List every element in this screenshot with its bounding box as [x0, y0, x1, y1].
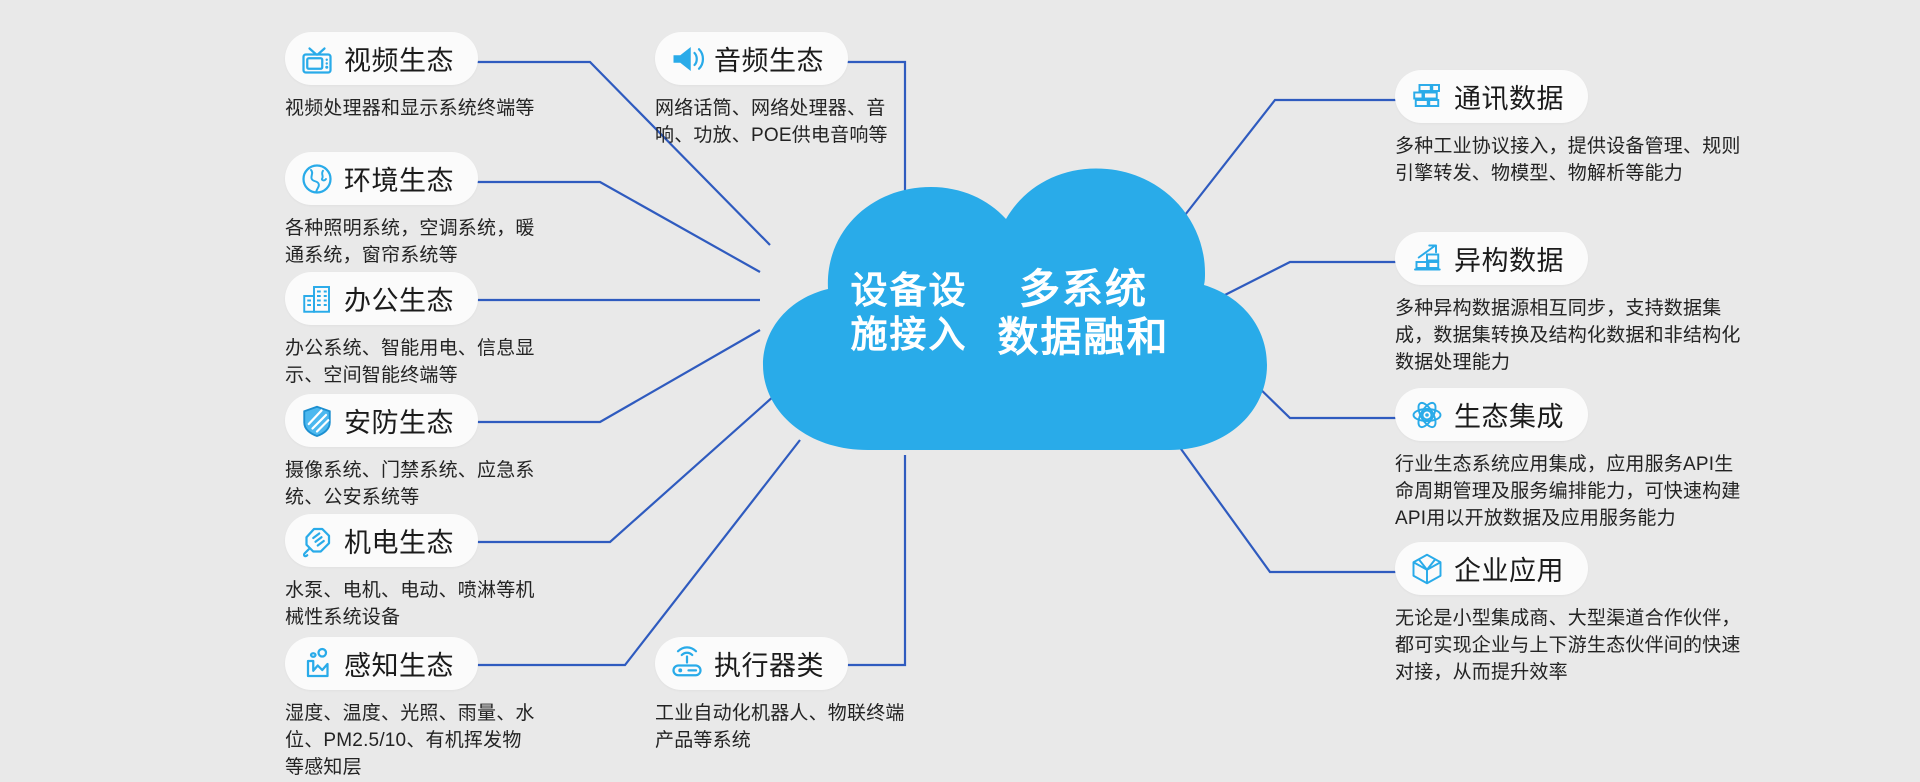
node-title: 办公生态	[344, 279, 454, 318]
node-video[interactable]: 视频生态 视频处理器和显示系统终端等	[285, 32, 535, 123]
node-desc: 水泵、电机、电动、喷淋等机械性系统设备	[285, 578, 535, 632]
node-ecosystem-integration[interactable]: 生态集成 行业生态系统应用集成，应用服务API生命周期管理及服务编排能力，可快速…	[1395, 388, 1745, 533]
node-desc: 工业自动化机器人、物联终端产品等系统	[655, 701, 905, 755]
bricks-icon	[1409, 79, 1445, 115]
plug-icon	[299, 523, 335, 559]
node-heterogeneous-data[interactable]: 异构数据 多种异构数据源相互同步，支持数据集成，数据集转换及结构化数据和非结构化…	[1395, 232, 1745, 377]
tv-icon	[299, 41, 335, 77]
chart-sensor-icon	[299, 646, 335, 682]
node-communication-data[interactable]: 通讯数据 多种工业协议接入，提供设备管理、规则引擎转发、物模型、物解析等能力	[1395, 70, 1745, 188]
pill-security[interactable]: 安防生态	[285, 394, 478, 447]
atom-icon	[1409, 397, 1445, 433]
node-security[interactable]: 安防生态 摄像系统、门禁系统、应急系统、公安系统等	[285, 394, 535, 512]
node-desc: 湿度、温度、光照、雨量、水位、PM2.5/10、有机挥发物等感知层	[285, 701, 535, 782]
node-title: 机电生态	[344, 521, 454, 560]
node-desc: 多种异构数据源相互同步，支持数据集成，数据集转换及结构化数据和非结构化数据处理能…	[1395, 296, 1745, 377]
cloud-label-right-line2: 数据融和	[998, 313, 1170, 361]
pill-video[interactable]: 视频生态	[285, 32, 478, 85]
pill-environment[interactable]: 环境生态	[285, 152, 478, 205]
node-desc: 各种照明系统，空调系统，暖通系统，窗帘系统等	[285, 216, 535, 270]
node-title: 执行器类	[714, 644, 824, 683]
node-desc: 办公系统、智能用电、信息显示、空间智能终端等	[285, 336, 535, 390]
globe-icon	[299, 161, 335, 197]
pill-electromechanical[interactable]: 机电生态	[285, 514, 478, 567]
node-desc: 视频处理器和显示系统终端等	[285, 96, 535, 123]
node-title: 通讯数据	[1454, 77, 1564, 116]
node-office[interactable]: 办公生态 办公系统、智能用电、信息显示、空间智能终端等	[285, 272, 535, 390]
node-desc: 摄像系统、门禁系统、应急系统、公安系统等	[285, 458, 535, 512]
pill-audio[interactable]: 音频生态	[655, 32, 848, 85]
node-desc: 无论是小型集成商、大型渠道合作伙伴，都可实现企业与上下游生态伙伴间的快速对接，从…	[1395, 606, 1745, 687]
node-desc: 多种工业协议接入，提供设备管理、规则引擎转发、物模型、物解析等能力	[1395, 134, 1745, 188]
node-enterprise-application[interactable]: 企业应用 无论是小型集成商、大型渠道合作伙伴，都可实现企业与上下游生态伙伴间的快…	[1395, 542, 1745, 687]
cloud-shape: 设备设 施接入 多系统 数据融和	[745, 165, 1275, 455]
pill-communication-data[interactable]: 通讯数据	[1395, 70, 1588, 123]
node-desc: 网络话筒、网络处理器、音响、功放、POE供电音响等	[655, 96, 905, 150]
building-icon	[299, 281, 335, 317]
node-environment[interactable]: 环境生态 各种照明系统，空调系统，暖通系统，窗帘系统等	[285, 152, 535, 270]
speaker-icon	[669, 41, 705, 77]
node-title: 安防生态	[344, 401, 454, 440]
cloud-label-left-line1: 设备设	[851, 269, 968, 313]
node-title: 音频生态	[714, 39, 824, 78]
pill-executor[interactable]: 执行器类	[655, 637, 848, 690]
shield-icon	[299, 403, 335, 439]
cloud-label-right: 多系统 数据融和	[998, 265, 1170, 362]
node-title: 异构数据	[1454, 239, 1564, 278]
pill-enterprise-application[interactable]: 企业应用	[1395, 542, 1588, 595]
pill-heterogeneous-data[interactable]: 异构数据	[1395, 232, 1588, 285]
pill-office[interactable]: 办公生态	[285, 272, 478, 325]
router-icon	[669, 646, 705, 682]
bricks-arrow-icon	[1409, 241, 1445, 277]
node-title: 视频生态	[344, 39, 454, 78]
cloud-label-left: 设备设 施接入	[851, 269, 968, 356]
node-title: 环境生态	[344, 159, 454, 198]
pill-ecosystem-integration[interactable]: 生态集成	[1395, 388, 1588, 441]
cube-icon	[1409, 551, 1445, 587]
node-title: 生态集成	[1454, 395, 1564, 434]
pill-sensing[interactable]: 感知生态	[285, 637, 478, 690]
node-title: 感知生态	[344, 644, 454, 683]
node-electromechanical[interactable]: 机电生态 水泵、电机、电动、喷淋等机械性系统设备	[285, 514, 535, 632]
wire-executor	[800, 455, 905, 665]
node-audio[interactable]: 音频生态 网络话筒、网络处理器、音响、功放、POE供电音响等	[655, 32, 905, 150]
node-executor[interactable]: 执行器类 工业自动化机器人、物联终端产品等系统	[655, 637, 905, 755]
node-title: 企业应用	[1454, 549, 1564, 588]
cloud-label-left-line2: 施接入	[851, 313, 968, 357]
node-sensing[interactable]: 感知生态 湿度、温度、光照、雨量、水位、PM2.5/10、有机挥发物等感知层	[285, 637, 535, 782]
diagram-canvas: 设备设 施接入 多系统 数据融和 视频生态 视频处理器和显示系统终端等	[0, 0, 1920, 779]
node-desc: 行业生态系统应用集成，应用服务API生命周期管理及服务编排能力，可快速构建API…	[1395, 452, 1745, 533]
cloud-label-right-line1: 多系统	[998, 265, 1170, 313]
